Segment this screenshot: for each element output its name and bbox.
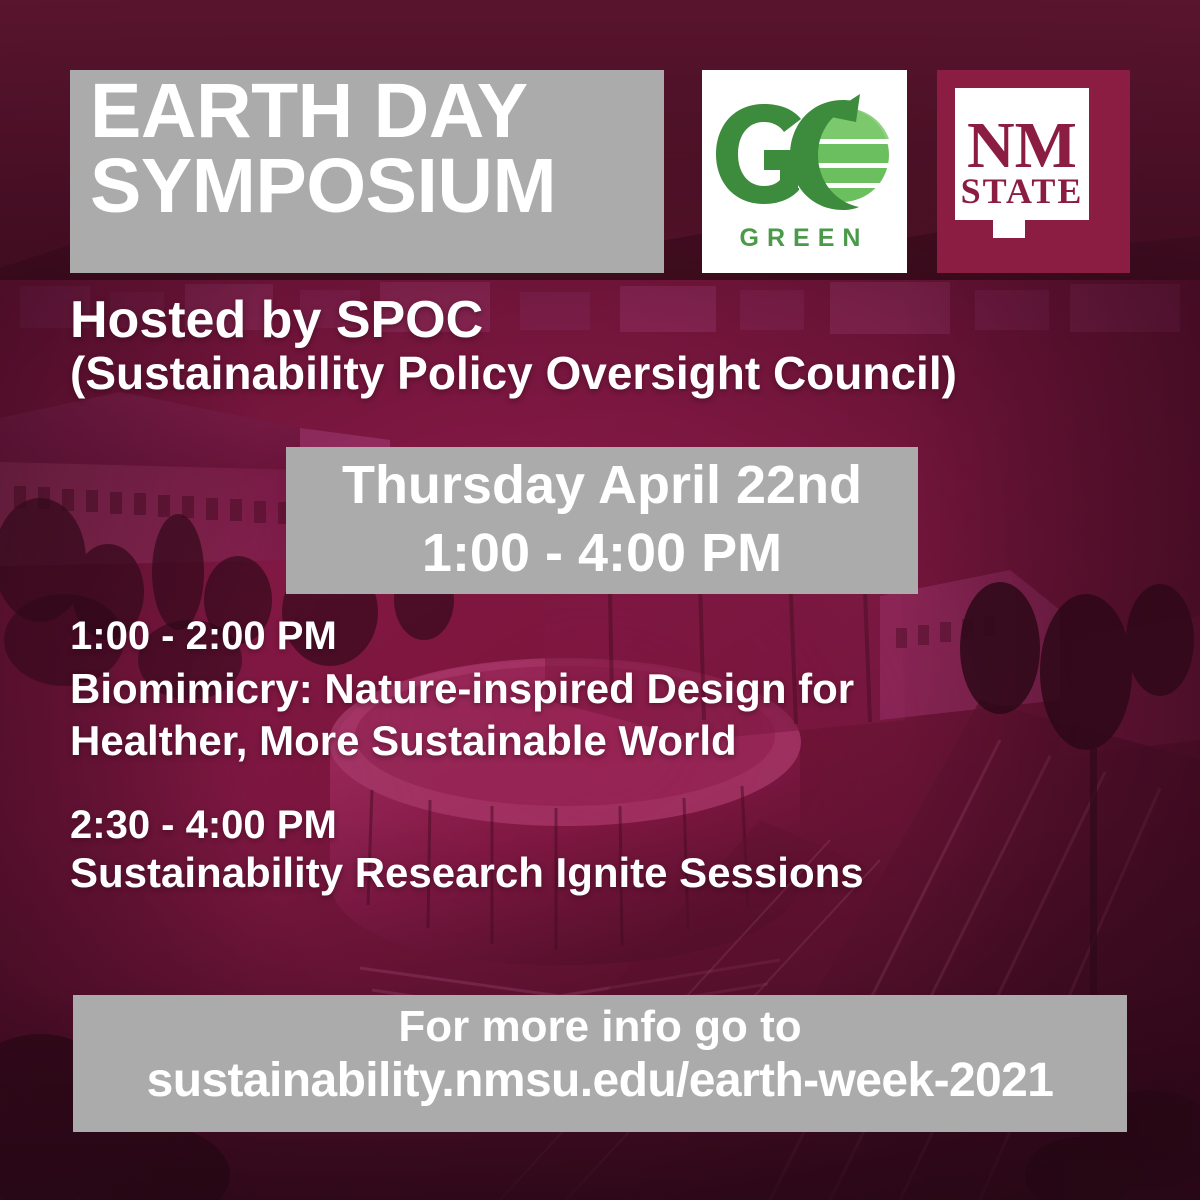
host-line-2: (Sustainability Policy Oversight Council…: [70, 349, 1130, 398]
session-item: 2:30 - 4:00 PM Sustainability Research I…: [70, 801, 1140, 898]
event-date: Thursday April 22nd: [286, 451, 918, 519]
event-time: 1:00 - 4:00 PM: [286, 519, 918, 587]
more-info-url[interactable]: sustainability.nmsu.edu/earth-week-2021: [73, 1053, 1127, 1110]
session-time: 1:00 - 2:00 PM: [70, 612, 1140, 661]
more-info-label: For more info go to: [73, 1001, 1127, 1053]
title-line-2: SYMPOSIUM: [90, 149, 650, 224]
go-green-logo: GREEN: [702, 70, 907, 273]
session-list: 1:00 - 2:00 PM Biomimicry: Nature-inspir…: [70, 612, 1140, 923]
session-title-line-2: Healther, More Sustainable World: [70, 717, 1140, 765]
session-title-line-1: Sustainability Research Ignite Sessions: [70, 849, 1140, 897]
go-green-wordmark: GREEN: [740, 224, 869, 252]
go-green-letter-g: [716, 104, 801, 204]
nmsu-state-text: STATE: [961, 171, 1084, 211]
more-info-block: For more info go to sustainability.nmsu.…: [73, 1001, 1127, 1110]
title-line-1: EARTH DAY: [90, 68, 528, 154]
earth-day-symposium-poster: EARTH DAY SYMPOSIUM: [0, 0, 1200, 1200]
host-block: Hosted by SPOC (Sustainability Policy Ov…: [70, 293, 1130, 398]
page-title: EARTH DAY SYMPOSIUM: [90, 74, 650, 225]
host-line-1: Hosted by SPOC: [70, 293, 1130, 349]
session-title-line-1: Biomimicry: Nature-inspired Design for: [70, 665, 1140, 713]
event-datetime: Thursday April 22nd 1:00 - 4:00 PM: [286, 451, 918, 587]
session-item: 1:00 - 2:00 PM Biomimicry: Nature-inspir…: [70, 612, 1140, 765]
nmsu-logo: NM STATE: [937, 70, 1130, 273]
session-time: 2:30 - 4:00 PM: [70, 801, 1140, 850]
